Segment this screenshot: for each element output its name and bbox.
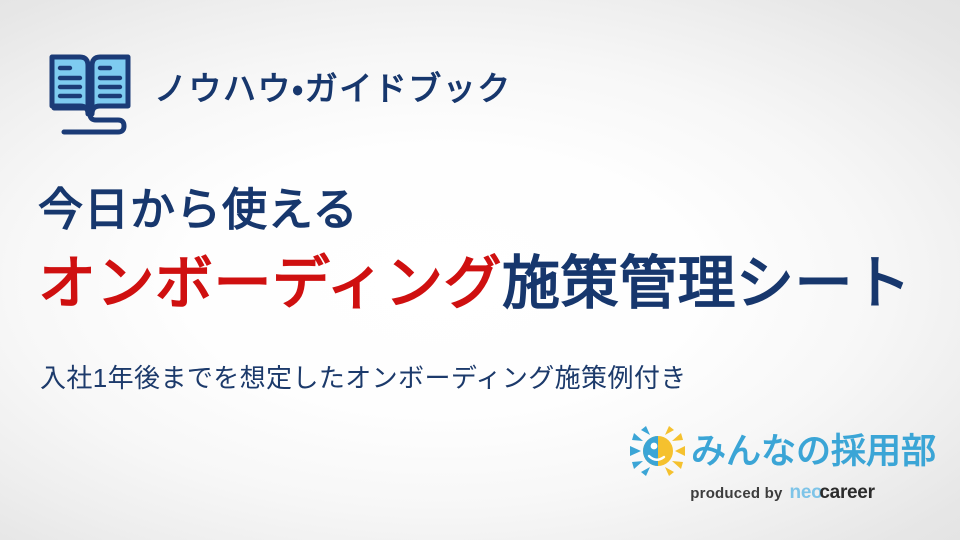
headline-line-1: 今日から使える <box>38 186 359 233</box>
brand-wordmark: みんなの採用部 <box>691 434 936 469</box>
sun-smiley-icon <box>629 426 685 476</box>
brand-tagline: produced by neocareer <box>690 483 874 502</box>
brand-logo-main: みんなの採用部 <box>629 426 936 476</box>
brand-logo-lockup: みんなの採用部 produced by neocareer <box>629 426 936 502</box>
eyebrow-row: ノウハウ・ガイドブック <box>44 44 512 136</box>
brand-neo: neo <box>790 482 823 503</box>
headline-keyword-red: オンボーディング <box>38 251 502 316</box>
headline-keyword-navy: 施策管理シート <box>502 251 912 316</box>
eyebrow-label: ノウハウ・ガイドブック <box>154 72 512 109</box>
brand-neocareer: neocareer <box>790 483 875 502</box>
produced-by-label: produced by <box>690 486 782 501</box>
slide-canvas: ノウハウ・ガイドブック 今日から使える オンボーディング施策管理シート 入社1年… <box>0 0 960 540</box>
brand-career: career <box>819 482 874 503</box>
open-book-icon <box>44 44 136 136</box>
subtitle: 入社1年後までを想定したオンボーディング施策例付き <box>40 358 687 395</box>
headline-line-2: オンボーディング施策管理シート <box>38 252 911 317</box>
